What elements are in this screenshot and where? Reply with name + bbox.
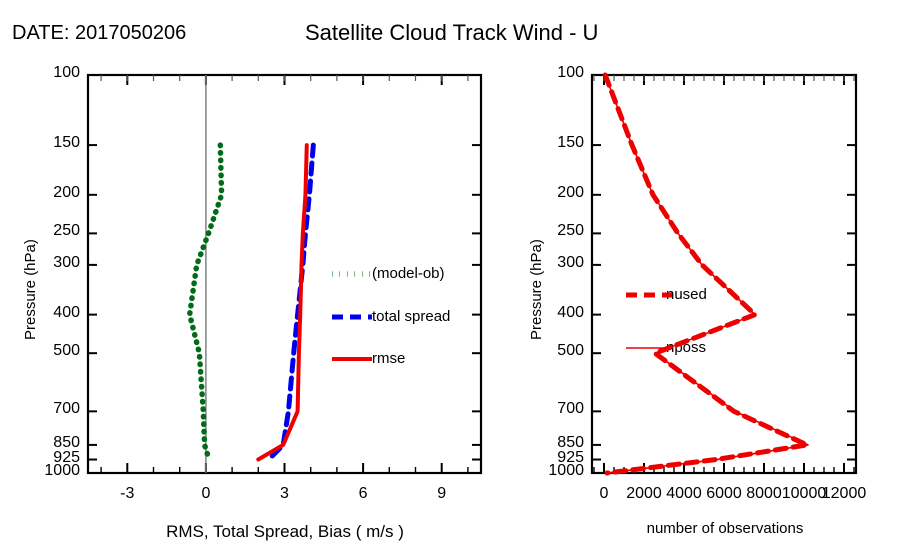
right-ytick-700: 700 <box>532 400 584 418</box>
left-ytick-250: 250 <box>28 222 80 240</box>
right-ytick-250: 250 <box>532 222 584 240</box>
right-ytick-300: 300 <box>532 254 584 272</box>
left-ytick-200: 200 <box>28 184 80 202</box>
left-ytick-400: 400 <box>28 304 80 322</box>
right-xtick-12000: 12000 <box>804 485 884 503</box>
left-panel-plot <box>88 75 481 473</box>
right-panel-plot <box>592 75 856 473</box>
left-xtick-3: 3 <box>245 485 325 503</box>
right-ytick-200: 200 <box>532 184 584 202</box>
right-series-nposs <box>605 75 808 473</box>
left-ytick-500: 500 <box>28 342 80 360</box>
right-ytick-100: 100 <box>532 64 584 82</box>
left-xtick--3: -3 <box>87 485 167 503</box>
left-series-rmse <box>258 145 306 459</box>
right-ytick-500: 500 <box>532 342 584 360</box>
left-ytick-1000: 1000 <box>28 462 80 480</box>
right-ytick-150: 150 <box>532 134 584 152</box>
left-ytick-150: 150 <box>28 134 80 152</box>
left-xtick-0: 0 <box>166 485 246 503</box>
left-ytick-300: 300 <box>28 254 80 272</box>
left-xtick-6: 6 <box>323 485 403 503</box>
right-ytick-400: 400 <box>532 304 584 322</box>
left-ytick-100: 100 <box>28 64 80 82</box>
right-series-nused <box>605 75 807 473</box>
right-ytick-1000: 1000 <box>532 462 584 480</box>
left-xtick-9: 9 <box>402 485 482 503</box>
plot-canvas <box>0 0 900 560</box>
left-ytick-700: 700 <box>28 400 80 418</box>
